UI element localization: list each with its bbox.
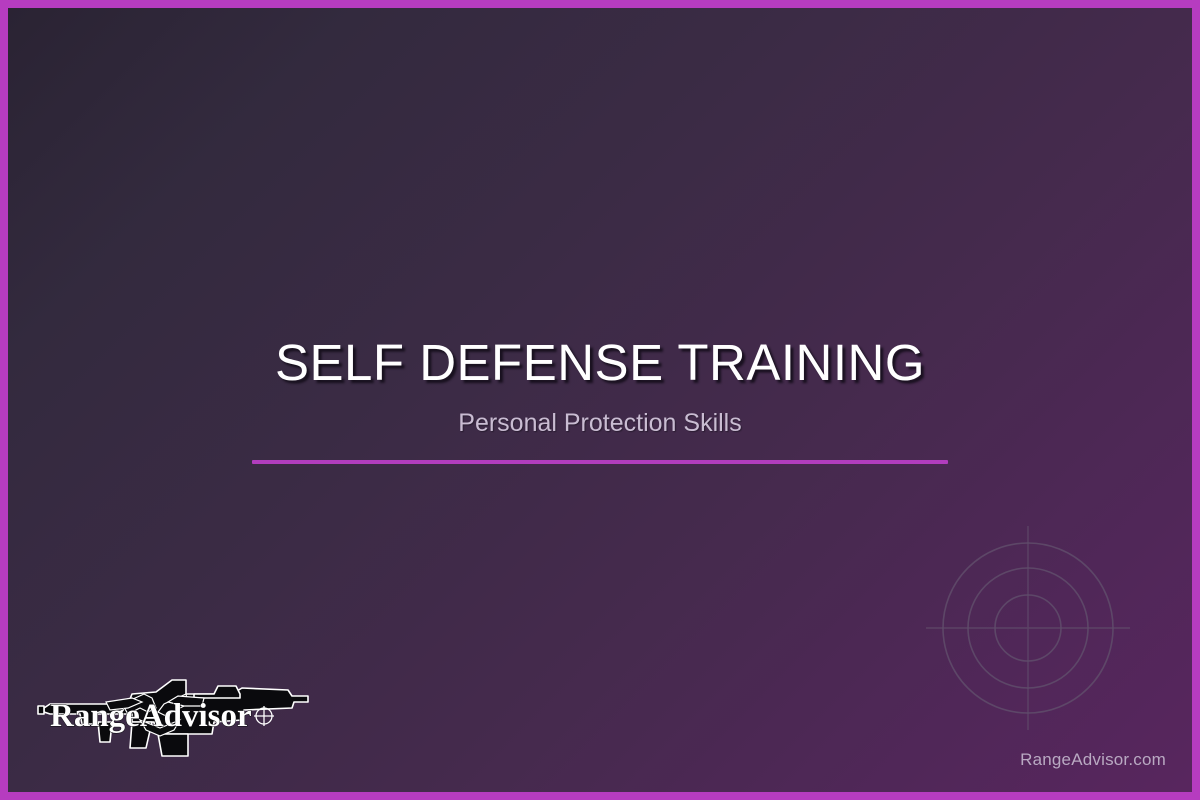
brand-wordmark: RangeAdvisor (50, 698, 252, 734)
page-title: SELF DEFENSE TRAINING (275, 336, 925, 390)
footer-website: RangeAdvisor.com (1020, 750, 1166, 770)
title-divider (252, 460, 948, 464)
presentation-slide: SELF DEFENSE TRAINING Personal Protectio… (0, 0, 1200, 800)
page-subtitle: Personal Protection Skills (458, 409, 741, 438)
rifle-logo-icon: RangeAdvisor (36, 664, 316, 764)
